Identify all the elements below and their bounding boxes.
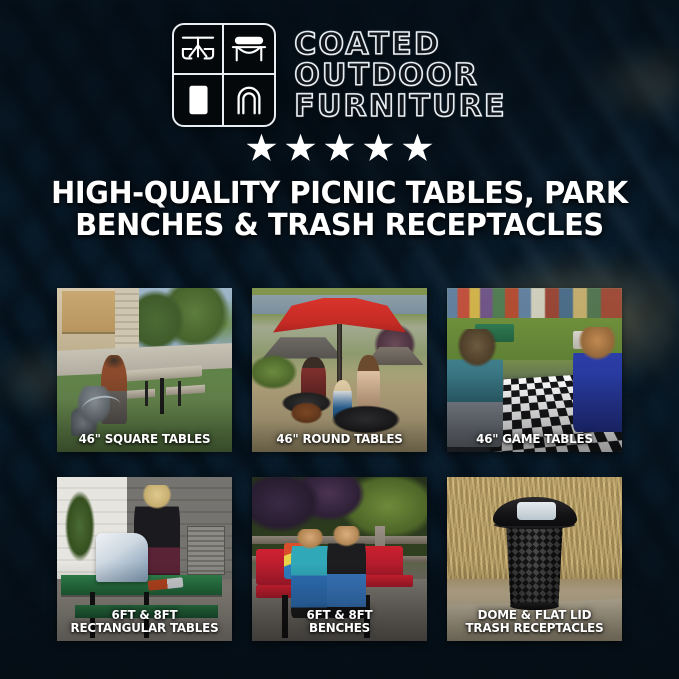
product-caption: 46" SQUARE TABLES	[61, 432, 227, 445]
star-icon-1	[247, 134, 277, 163]
bike-rack-icon	[224, 75, 274, 125]
headline-line-2: BENCHES & TRASH RECEPTACLES	[46, 210, 633, 242]
product-tile-round-tables[interactable]: 46" ROUND TABLES	[252, 288, 427, 452]
caption-line-2: RECTANGULAR TABLES	[65, 621, 224, 634]
headline-line-1: HIGH-QUALITY PICNIC TABLES, PARK	[51, 176, 628, 211]
photo-shade	[447, 288, 622, 452]
brand-wordmark: COATED OUTDOOR FURNITURE	[294, 28, 506, 121]
brand-logo: COATED OUTDOOR FURNITURE	[0, 0, 679, 126]
logo-icon-grid	[172, 23, 276, 127]
bench-icon	[224, 25, 274, 75]
caption-line-1: 46" ROUND TABLES	[276, 431, 402, 446]
product-tile-benches[interactable]: 6FT & 8FT BENCHES	[252, 477, 427, 641]
photo-shade	[57, 288, 232, 452]
product-caption: 6FT & 8FT BENCHES	[256, 608, 422, 635]
caption-line-2: TRASH RECEPTACLES	[455, 621, 614, 634]
headline: HIGH-QUALITY PICNIC TABLES, PARK BENCHES…	[14, 168, 666, 243]
photo-shade	[252, 288, 427, 452]
product-caption: 46" ROUND TABLES	[256, 432, 422, 445]
caption-line-1: 46" GAME TABLES	[476, 431, 593, 446]
product-caption: 6FT & 8FT RECTANGULAR TABLES	[61, 608, 227, 635]
star-icon-4	[364, 134, 394, 163]
caption-line-2: BENCHES	[260, 621, 419, 634]
product-tile-rectangular-tables[interactable]: 6FT & 8FT RECTANGULAR TABLES	[57, 477, 232, 641]
product-grid: 46" SQUARE TABLES 46" ROUND TABLES	[57, 288, 622, 641]
star-icon-5	[403, 134, 433, 163]
product-caption: 46" GAME TABLES	[451, 432, 617, 445]
product-tile-trash-receptacles[interactable]: DOME & FLAT LID TRASH RECEPTACLES	[447, 477, 622, 641]
banner-content: COATED OUTDOOR FURNITURE HIGH-QUALITY PI…	[0, 0, 679, 679]
star-icon-2	[286, 134, 316, 163]
picnic-table-icon	[174, 25, 224, 75]
brand-line-2: OUTDOOR	[294, 61, 506, 91]
star-rating	[0, 128, 679, 168]
trash-receptacle-icon	[174, 75, 224, 125]
product-tile-square-tables[interactable]: 46" SQUARE TABLES	[57, 288, 232, 452]
product-caption: DOME & FLAT LID TRASH RECEPTACLES	[451, 608, 617, 635]
brand-line-1: COATED	[294, 30, 506, 60]
brand-line-3: FURNITURE	[294, 92, 506, 122]
star-icon-3	[325, 134, 355, 163]
advertisement-banner: COATED OUTDOOR FURNITURE HIGH-QUALITY PI…	[0, 0, 679, 679]
product-tile-game-tables[interactable]: 46" GAME TABLES	[447, 288, 622, 452]
caption-line-1: 46" SQUARE TABLES	[79, 431, 211, 446]
